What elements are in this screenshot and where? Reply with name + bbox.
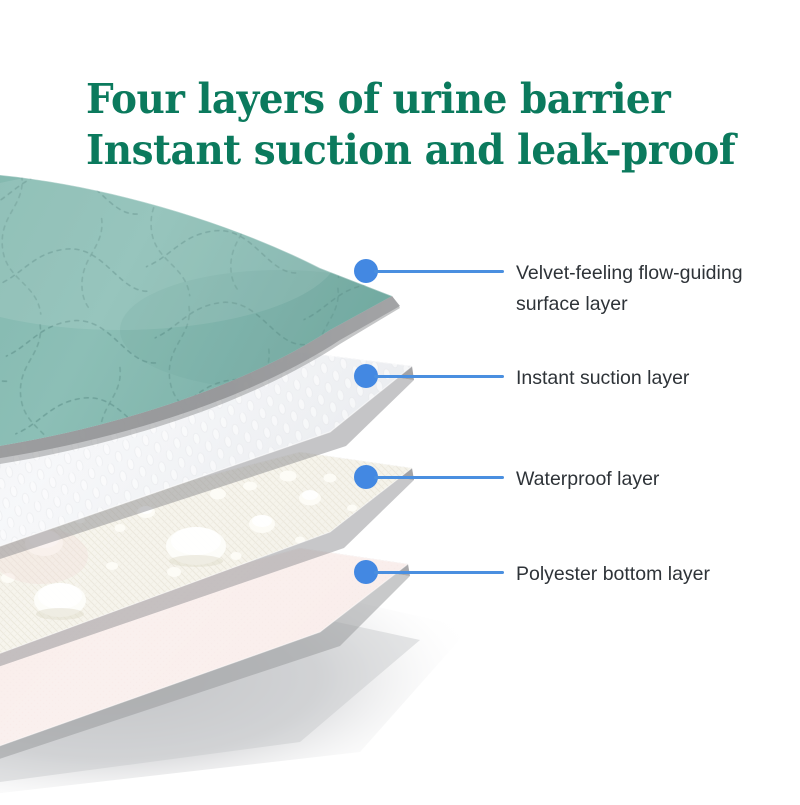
- callout-leader-line: [374, 571, 504, 574]
- layer-diagram: [0, 0, 800, 800]
- callout-label: Waterproof layer: [516, 464, 800, 495]
- callout-leader-line: [374, 270, 504, 273]
- callout-leader-line: [374, 375, 504, 378]
- callout-label: Instant suction layer: [516, 363, 800, 394]
- callout-leader-line: [374, 476, 504, 479]
- callout-label: Velvet-feeling flow-guiding surface laye…: [516, 258, 800, 320]
- layer-stack-svg: [0, 0, 800, 800]
- callout-label: Polyester bottom layer: [516, 559, 800, 590]
- infographic-canvas: Four layers of urine barrier Instant suc…: [0, 0, 800, 800]
